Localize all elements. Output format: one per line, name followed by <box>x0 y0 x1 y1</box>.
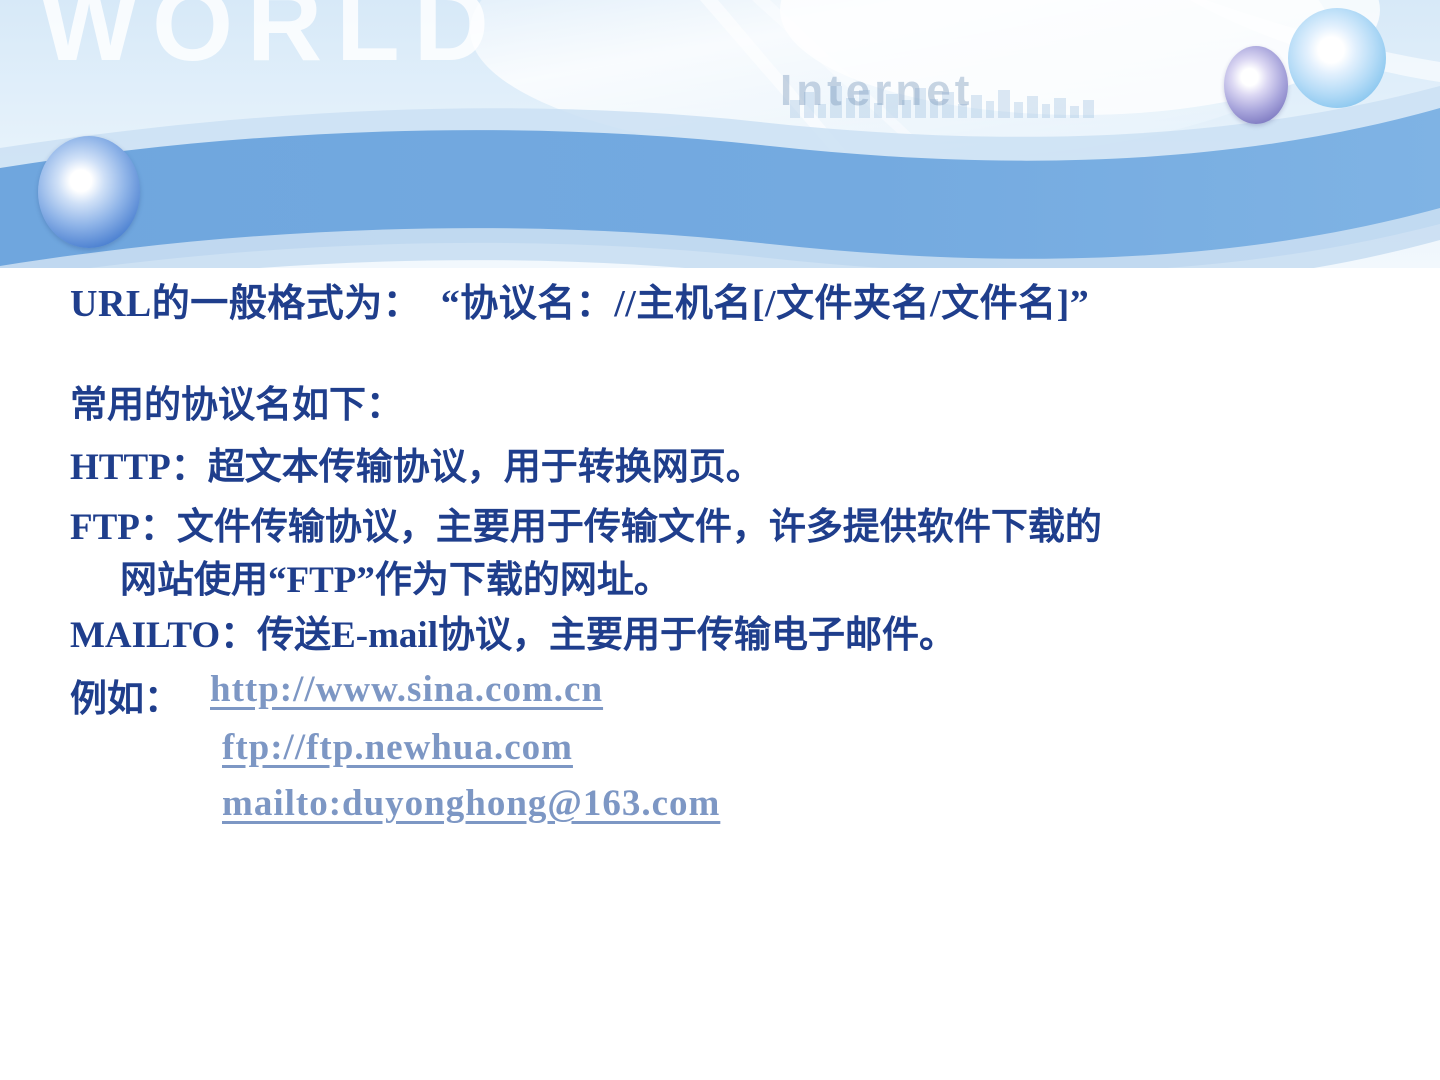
url-format-title: URL的一般格式为： “协议名：//主机名[/文件夹名/文件名]” <box>70 272 1089 327</box>
protocol-ftp-description-continued: 网站使用“FTP”作为下载的网址。 <box>120 549 671 603</box>
decorative-sphere-blue-large <box>38 136 140 248</box>
slide: WORLD Internet URL的一般格式为： “协议名：//主机名[/文件… <box>0 0 1440 1080</box>
protocol-ftp-description: FTP：文件传输协议，主要用于传输文件，许多提供软件下载的 <box>70 496 1102 550</box>
protocol-http-description: HTTP：超文本传输协议，用于转换网页。 <box>70 436 763 490</box>
example-link-http[interactable]: http://www.sina.com.cn <box>210 668 603 711</box>
decorative-sphere-purple <box>1224 46 1288 124</box>
decorative-sphere-lightblue <box>1288 8 1386 108</box>
header-banner: WORLD Internet <box>0 0 1440 268</box>
example-label: 例如： <box>70 668 181 722</box>
protocol-list-intro: 常用的协议名如下： <box>70 374 403 428</box>
protocol-mailto-description: MAILTO：传送E-mail协议，主要用于传输电子邮件。 <box>70 604 956 658</box>
banner-waves-graphic <box>0 0 1440 268</box>
example-link-mailto[interactable]: mailto:duyonghong@163.com <box>222 782 720 825</box>
example-link-ftp[interactable]: ftp://ftp.newhua.com <box>222 726 573 769</box>
